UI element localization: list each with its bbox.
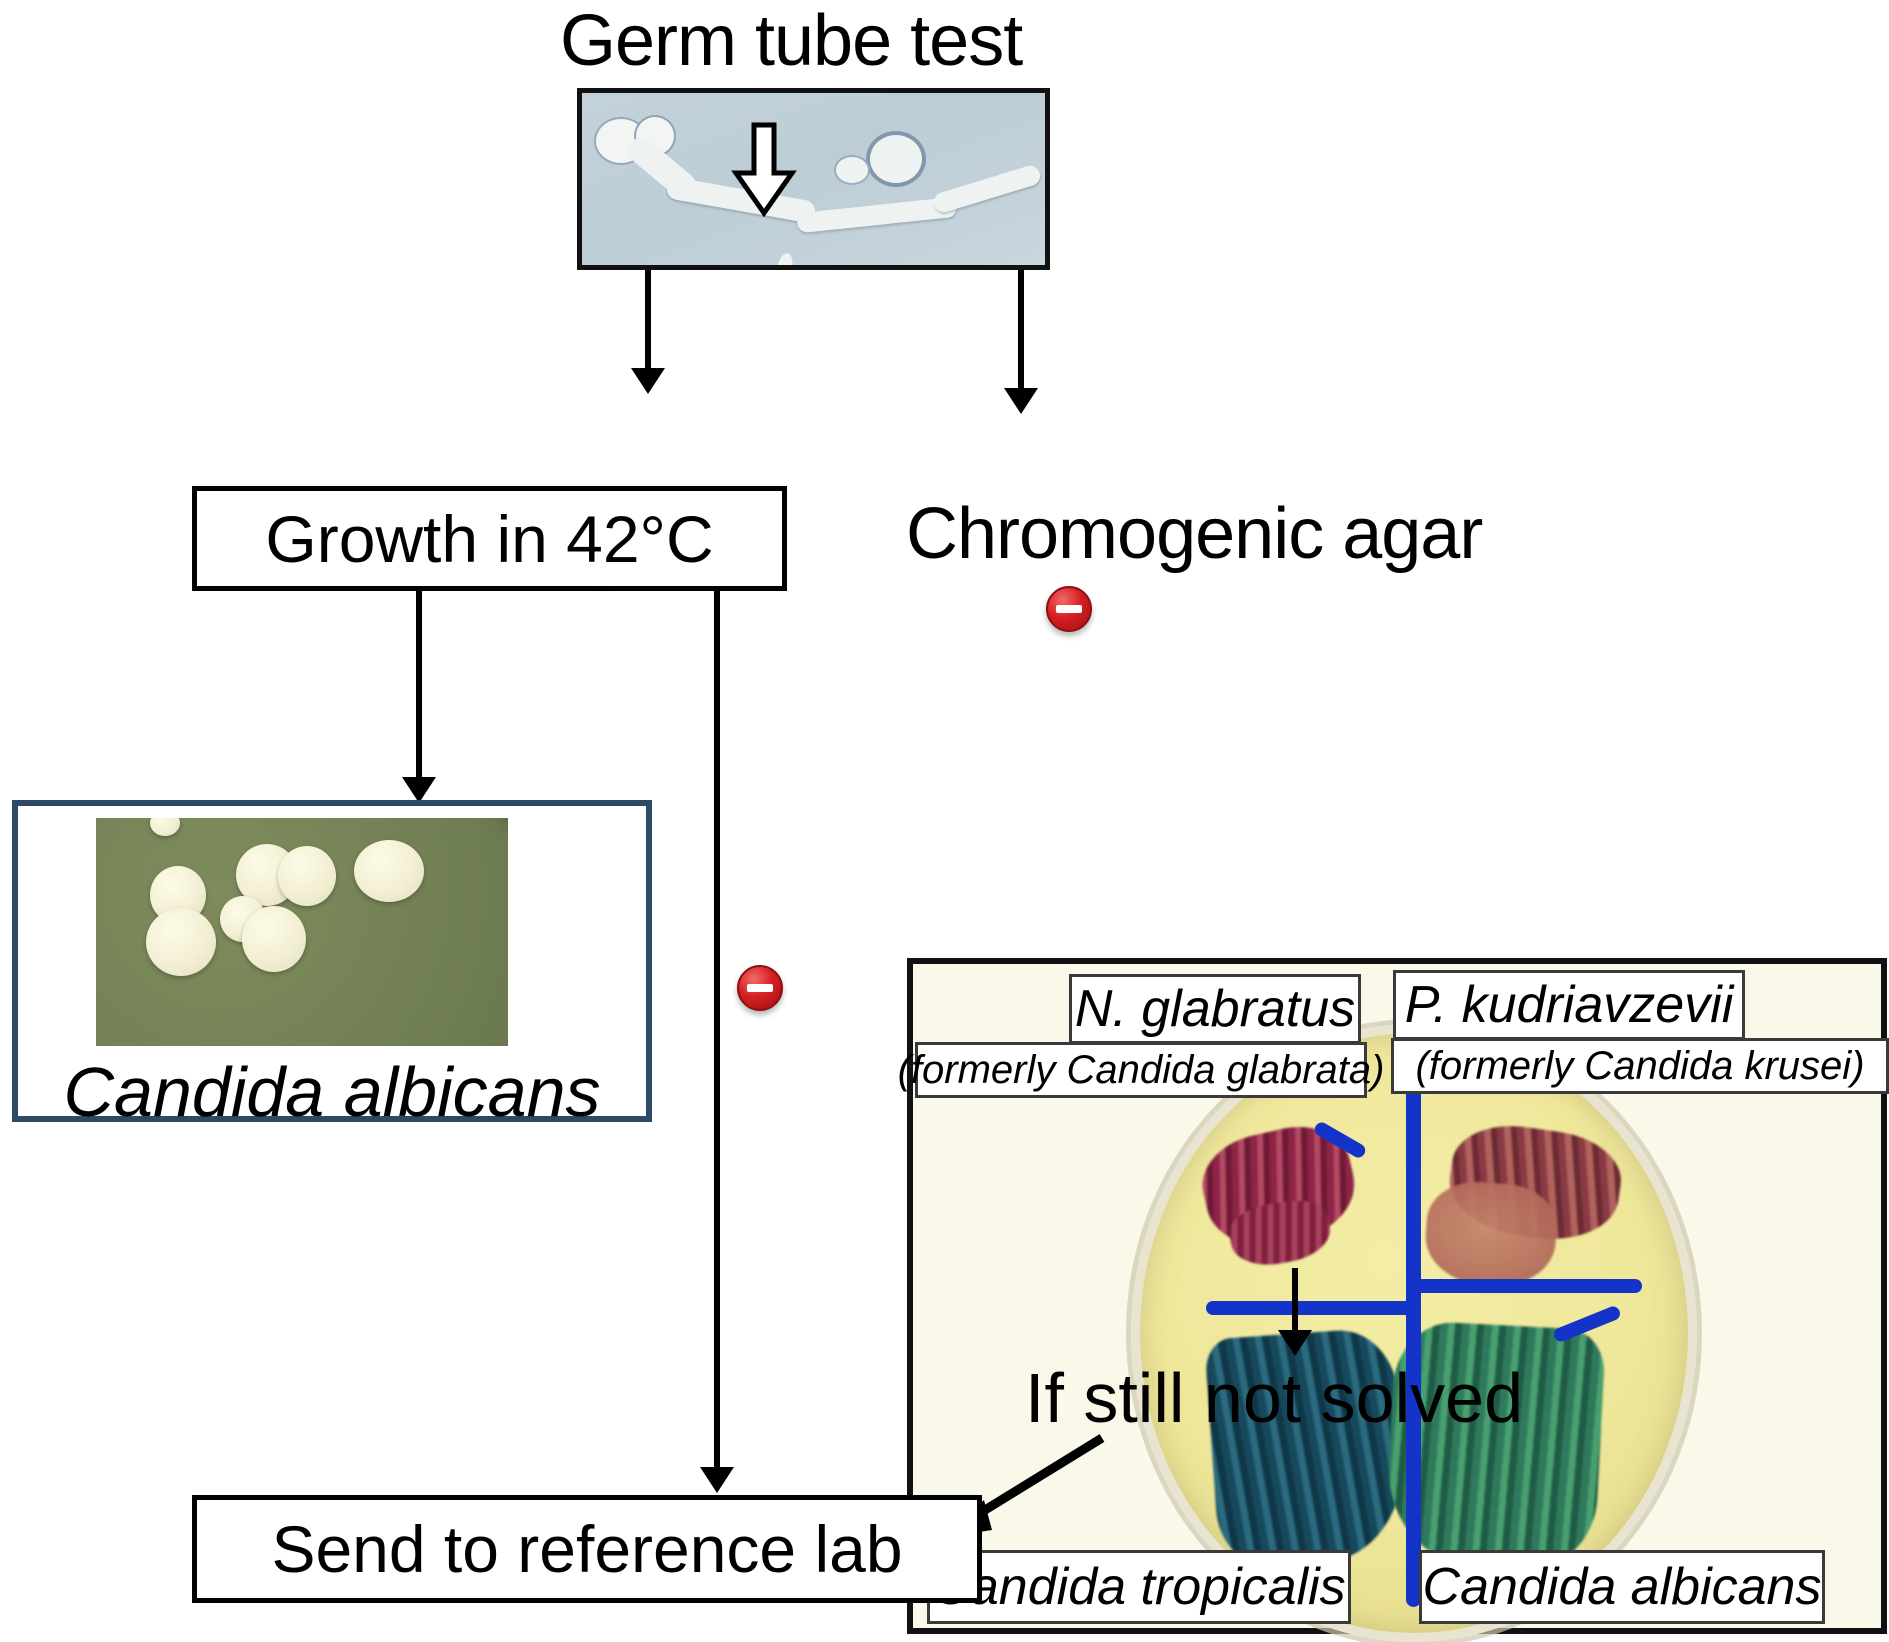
- arrowhead-icon: [700, 1467, 734, 1493]
- node-candida-albicans-result[interactable]: Candida albicans: [12, 800, 652, 1122]
- yeast-colony: [278, 846, 336, 906]
- arrowhead-icon: [1004, 388, 1038, 414]
- yeast-colony: [354, 840, 424, 902]
- quadrant-line-horizontal-left: [1206, 1301, 1416, 1315]
- node-send-to-reference-lab[interactable]: Send to reference lab: [192, 1495, 982, 1603]
- node-growth-42c[interactable]: Growth in 42°C: [192, 486, 787, 591]
- germ-tube-filament: [931, 163, 1042, 214]
- yeast-cell: [775, 252, 794, 270]
- agar-label-n-glabratus: N. glabratus: [1069, 974, 1361, 1044]
- yeast-colony: [242, 906, 306, 972]
- yeast-colony: [146, 908, 216, 976]
- page-title: Germ tube test: [560, 5, 1022, 77]
- agar-label-p-kudriavzevii: P. kudriavzevii: [1393, 970, 1745, 1040]
- germ-tube-micrograph: [577, 88, 1050, 270]
- edge-germtube-to-chromogenic: [1018, 270, 1024, 392]
- edge-germtube-to-growth42: [645, 270, 651, 372]
- agar-label-candida-albicans: Candida albicans: [1419, 1550, 1825, 1624]
- quadrant-line-vertical: [1406, 1067, 1421, 1607]
- candida-albicans-plate-photo: [96, 818, 508, 1046]
- arrowhead-icon: [1278, 1330, 1312, 1356]
- edge-chromogenic-to-unsolved: [1292, 1268, 1298, 1334]
- chromogenic-agar-title: Chromogenic agar: [906, 498, 1482, 570]
- node-if-not-solved: If still not solved: [1025, 1358, 1523, 1438]
- agar-label-p-kudriavzevii-former: (formerly Candida krusei): [1391, 1038, 1889, 1094]
- badge-negative: [737, 965, 783, 1011]
- yeast-cell: [836, 157, 868, 183]
- arrowhead-icon: [631, 368, 665, 394]
- result-species-label: Candida albicans: [18, 1052, 646, 1132]
- quadrant-line-horizontal-right: [1412, 1279, 1642, 1293]
- agar-label-candida-tropicalis: Candida tropicalis: [927, 1550, 1351, 1624]
- edge-growth42-to-albicans: [416, 591, 422, 781]
- yeast-cell: [870, 135, 922, 183]
- badge-negative: [1046, 586, 1092, 632]
- edge-growth42-to-reference-lab: [714, 591, 720, 1471]
- agar-label-n-glabratus-former: (formerly Candida glabrata): [915, 1042, 1367, 1098]
- micrograph-arrow-icon: [728, 121, 800, 217]
- streak-p-kudriavzevii: [1423, 1179, 1560, 1290]
